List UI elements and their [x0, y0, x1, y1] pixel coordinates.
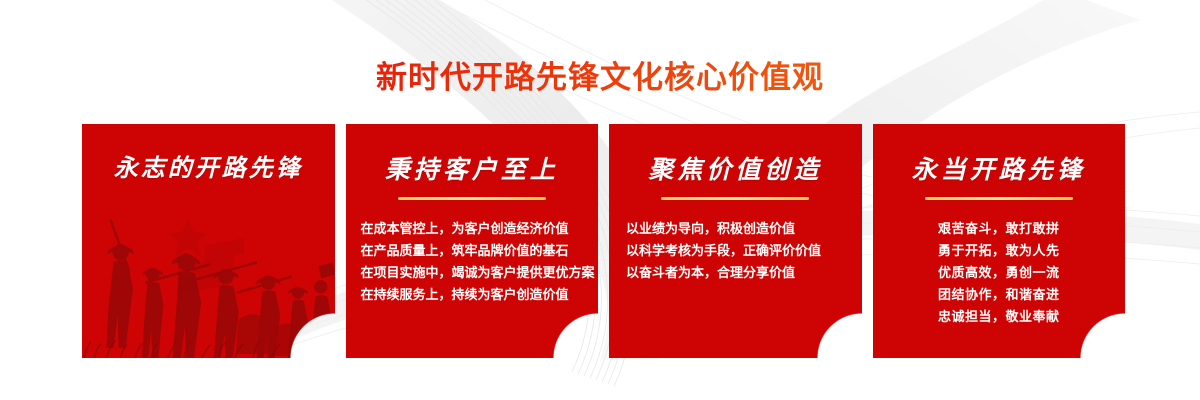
banner-root: 新时代开路先锋文化核心价值观	[0, 0, 1200, 400]
card-lines: 以业绩为导向，积极创造价值 以科学考核为手段，正确评价价值 以奋斗者为本，合理分…	[626, 220, 821, 283]
card-line: 在持续服务上，持续为客户创造价值	[361, 286, 595, 305]
value-card-customer-first[interactable]: 秉持客户至上 在成本管控上，为客户创造经济价值 在产品质量上，筑牢品牌价值的基石…	[346, 124, 599, 358]
heading-underline	[398, 197, 546, 200]
card-line: 以奋斗者为本，合理分享价值	[626, 264, 821, 283]
card-line: 在成本管控上，为客户创造经济价值	[361, 220, 595, 239]
card-line: 在项目实施中，竭诚为客户提供更优方案	[361, 264, 595, 283]
card-heading: 永志的开路先锋	[114, 148, 303, 183]
card-line: 以科学考核为手段，正确评价价值	[626, 242, 821, 261]
card-line: 在产品质量上，筑牢品牌价值的基石	[361, 242, 595, 261]
card-lines: 艰苦奋斗，敢打敢拼 勇于开拓，敢为人先 优质高效，勇创一流 团结协作，和谐奋进 …	[938, 220, 1060, 327]
card-lines: 在成本管控上，为客户创造经济价值 在产品质量上，筑牢品牌价值的基石 在项目实施中…	[361, 220, 595, 305]
value-card-eternal-pioneer[interactable]: 永志的开路先锋	[82, 124, 335, 358]
card-heading: 永当开路先锋	[912, 150, 1086, 186]
page-title: 新时代开路先锋文化核心价值观	[0, 52, 1200, 97]
card-heading: 聚焦价值创造	[648, 150, 822, 186]
heading-underline	[925, 197, 1073, 200]
value-card-focus-value-creation[interactable]: 聚焦价值创造 以业绩为导向，积极创造价值 以科学考核为手段，正确评价价值 以奋斗…	[609, 124, 862, 358]
card-line: 团结协作，和谐奋进	[938, 286, 1060, 305]
heading-underline	[661, 197, 809, 200]
card-line: 艰苦奋斗，敢打敢拼	[938, 220, 1060, 239]
card-heading: 秉持客户至上	[385, 150, 559, 186]
card-line: 优质高效，勇创一流	[938, 264, 1060, 283]
card-line: 忠诚担当，敬业奉献	[938, 308, 1060, 327]
value-card-always-pioneer[interactable]: 永当开路先锋 艰苦奋斗，敢打敢拼 勇于开拓，敢为人先 优质高效，勇创一流 团结协…	[873, 124, 1126, 358]
value-cards-row: 永志的开路先锋 秉持客户至上 在成本管控上，为客户创造经济价值 在产品质量上，筑…	[82, 124, 1125, 358]
card-line: 以业绩为导向，积极创造价值	[626, 220, 821, 239]
card-line: 勇于开拓，敢为人先	[938, 242, 1060, 261]
